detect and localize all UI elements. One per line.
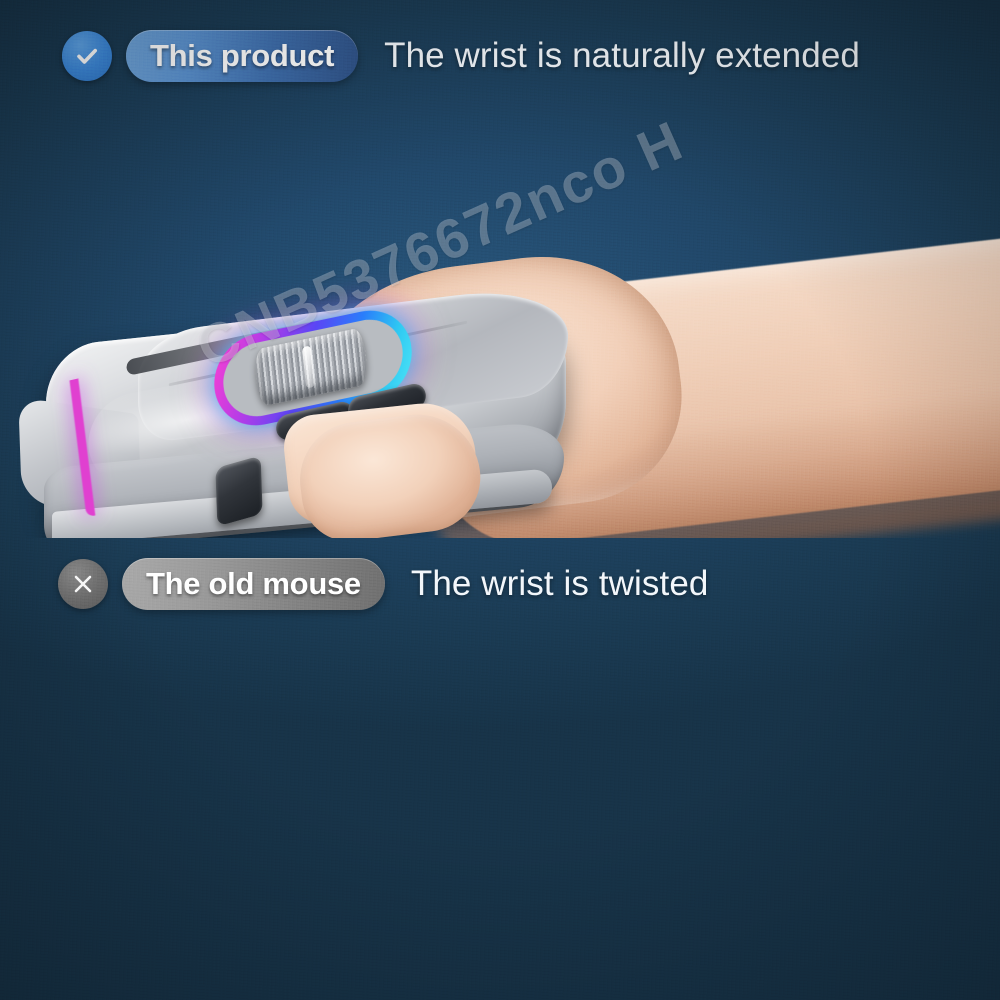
x-icon [58, 559, 108, 609]
headline-this-product: The wrist is naturally extended [384, 36, 860, 76]
pill-this-product: This product [126, 30, 358, 82]
check-icon [62, 31, 112, 81]
photo-old-mouse [0, 645, 1000, 1000]
photo-this-product [0, 118, 1000, 538]
headline-old-mouse: The wrist is twisted [411, 564, 709, 604]
pill-old-mouse: The old mouse [122, 558, 385, 610]
row-this-product: This product The wrist is naturally exte… [62, 30, 860, 82]
row-old-mouse: The old mouse The wrist is twisted [58, 558, 708, 610]
infographic-canvas: CNB5376672nco H This product The wrist i… [0, 0, 1000, 1000]
